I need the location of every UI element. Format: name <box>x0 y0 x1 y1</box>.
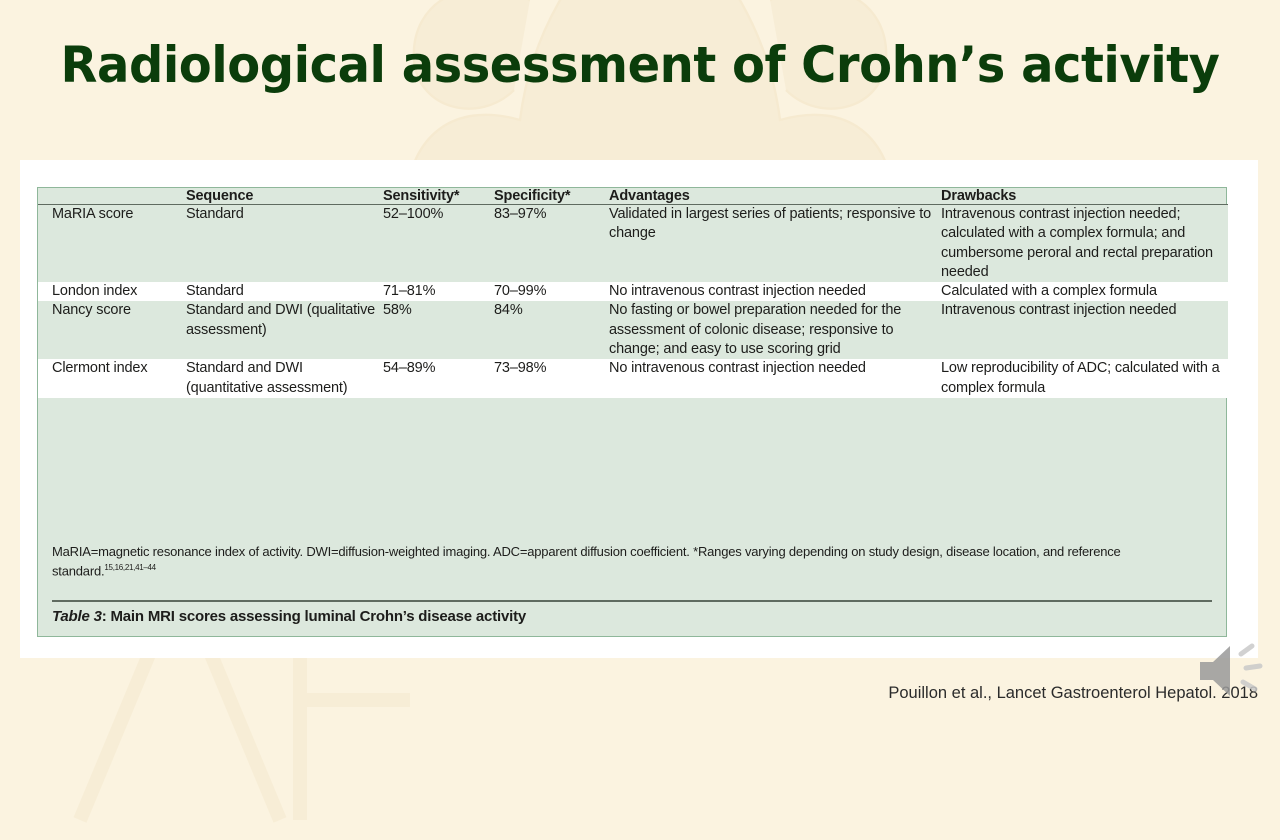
cell-drawbacks: Intravenous contrast injection needed <box>941 301 1228 359</box>
mri-scores-table-panel: Sequence Sensitivity* Specificity* Advan… <box>37 187 1227 637</box>
cell-advantages: No fasting or bowel preparation needed f… <box>609 301 941 359</box>
cell-sensitivity: 58% <box>383 301 494 359</box>
caption-label: Table 3 <box>52 608 102 625</box>
cell-specificity: 73–98% <box>494 359 609 398</box>
table-row: Nancy score Standard and DWI (qualitativ… <box>38 301 1228 359</box>
cell-sequence: Standard and DWI (quantitative assessmen… <box>186 359 383 398</box>
cell-specificity: 84% <box>494 301 609 359</box>
table-row: Clermont index Standard and DWI (quantit… <box>38 359 1228 398</box>
cell-drawbacks: Intravenous contrast injection needed; c… <box>941 205 1228 283</box>
table-row: London index Standard 71–81% 70–99% No i… <box>38 282 1228 301</box>
footnote-reference-numbers: 15,16,21,41–44 <box>104 563 155 572</box>
cell-sensitivity: 54–89% <box>383 359 494 398</box>
column-header-sensitivity: Sensitivity* <box>383 188 494 205</box>
cell-sequence: Standard and DWI (qualitative assessment… <box>186 301 383 359</box>
cell-specificity: 83–97% <box>494 205 609 283</box>
cell-score-name: Clermont index <box>38 359 186 398</box>
column-header-sequence: Sequence <box>186 188 383 205</box>
cell-advantages: Validated in largest series of patients;… <box>609 205 941 283</box>
column-header-drawbacks: Drawbacks <box>941 188 1228 205</box>
column-header-advantages: Advantages <box>609 188 941 205</box>
cell-sensitivity: 71–81% <box>383 282 494 301</box>
cell-drawbacks: Low reproducibility of ADC; calculated w… <box>941 359 1228 398</box>
cell-sequence: Standard <box>186 205 383 283</box>
cell-score-name: Nancy score <box>38 301 186 359</box>
cell-drawbacks: Calculated with a complex formula <box>941 282 1228 301</box>
column-header-specificity: Specificity* <box>494 188 609 205</box>
cell-score-name: MaRIA score <box>38 205 186 283</box>
cell-advantages: No intravenous contrast injection needed <box>609 359 941 398</box>
page-title: Radiological assessment of Crohn’s activ… <box>26 36 1255 94</box>
table-row: MaRIA score Standard 52–100% 83–97% Vali… <box>38 205 1228 283</box>
cell-sensitivity: 52–100% <box>383 205 494 283</box>
cell-score-name: London index <box>38 282 186 301</box>
table-header-row: Sequence Sensitivity* Specificity* Advan… <box>38 188 1228 205</box>
column-header-score <box>38 188 186 205</box>
mri-scores-table: Sequence Sensitivity* Specificity* Advan… <box>38 188 1228 398</box>
footnote-text: MaRIA=magnetic resonance index of activi… <box>52 544 1121 578</box>
table-footnote: MaRIA=magnetic resonance index of activi… <box>52 543 1212 581</box>
caption-text: : Main MRI scores assessing luminal Croh… <box>102 608 526 625</box>
figure-card: Sequence Sensitivity* Specificity* Advan… <box>20 160 1258 658</box>
table-caption: Table 3: Main MRI scores assessing lumin… <box>52 608 1212 625</box>
caption-divider <box>52 600 1212 602</box>
speaker-icon[interactable] <box>1196 640 1270 702</box>
cell-sequence: Standard <box>186 282 383 301</box>
cell-specificity: 70–99% <box>494 282 609 301</box>
cell-advantages: No intravenous contrast injection needed <box>609 282 941 301</box>
